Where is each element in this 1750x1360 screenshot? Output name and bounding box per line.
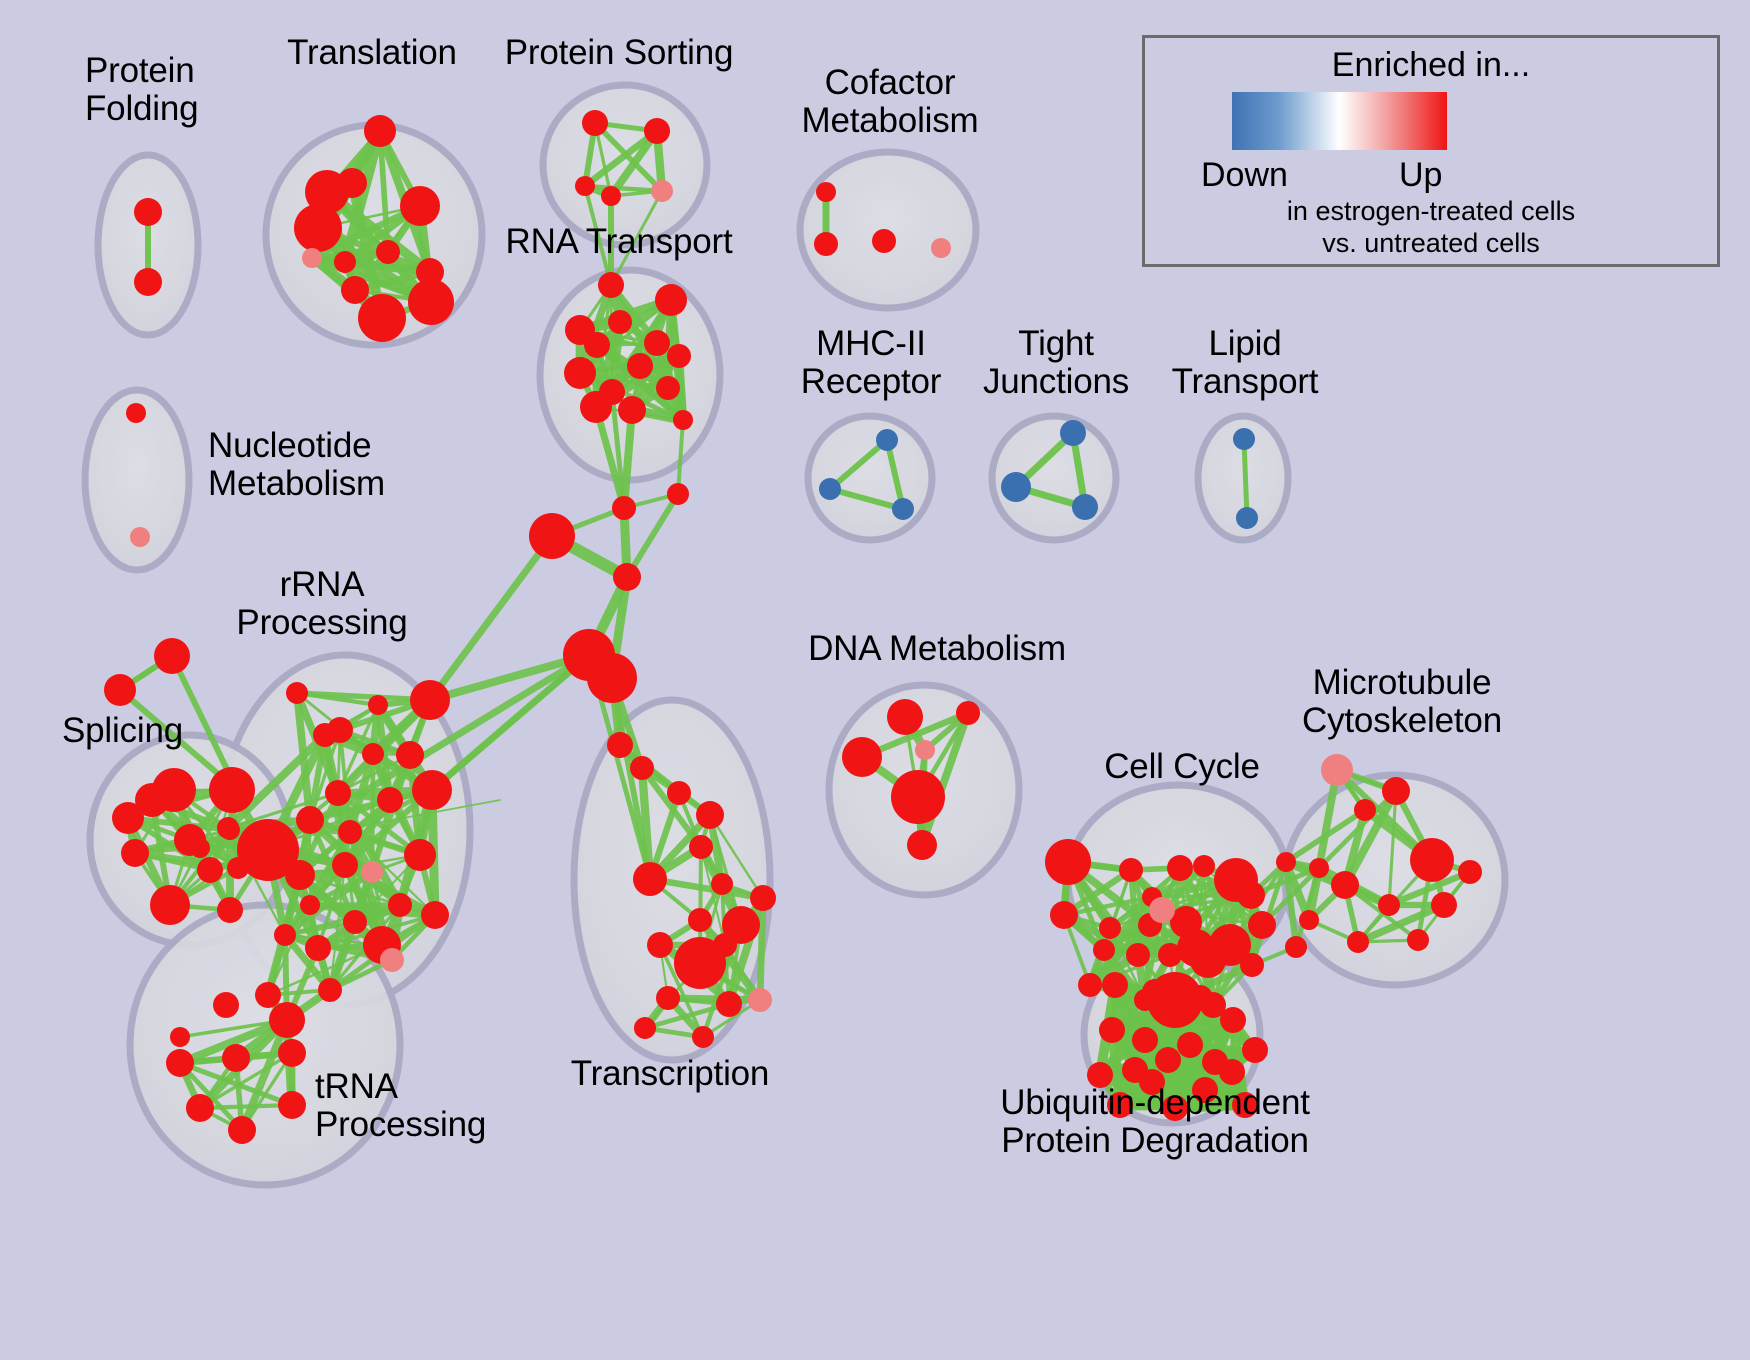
network-node [1242,1037,1268,1063]
network-node [318,978,342,1002]
cluster-blob-mhc-ii-receptor [808,416,932,540]
network-node [842,737,882,777]
network-node [1102,972,1128,998]
network-node [377,787,403,813]
network-node [644,118,670,144]
network-node [1158,943,1182,967]
cluster-label-rna-transport: RNA Transport [506,223,733,261]
network-node [1321,754,1353,786]
cluster-label-dna-metabolism: DNA Metabolism [808,630,1066,668]
network-node [1187,985,1213,1011]
network-node [601,186,621,206]
network-edge [430,536,552,700]
enrichment-map-figure: Protein Folding Translation Protein Sort… [0,0,1750,1360]
network-node [1122,1057,1148,1083]
legend-box: Enriched in... Down Up in estrogen-treat… [1142,35,1720,267]
network-node [112,802,144,834]
network-node [630,756,654,780]
cluster-label-tight-junctions: Tight Junctions [983,325,1129,401]
cluster-label-cofactor-metabolism: Cofactor Metabolism [802,64,979,140]
network-node [404,839,436,871]
network-node [688,908,712,932]
network-node [327,717,353,743]
network-node [294,204,342,252]
network-node [278,1039,306,1067]
network-node [228,1116,256,1144]
network-node [1299,910,1319,930]
network-node [104,674,136,706]
network-node [343,910,367,934]
network-node [1177,1032,1203,1058]
network-node [166,1049,194,1077]
network-node [1155,1047,1181,1073]
network-node [1347,931,1369,953]
network-node [421,901,449,929]
network-node [380,948,404,972]
network-node [618,396,646,424]
cluster-label-cell-cycle: Cell Cycle [1104,748,1260,786]
network-node [362,743,384,765]
network-node [396,741,424,769]
network-node [931,238,951,258]
network-edge [668,998,760,1000]
network-node [305,935,331,961]
network-node [278,1091,306,1119]
legend-subtitle-line1: in estrogen-treated cells [1145,196,1717,227]
network-node [134,198,162,226]
network-node [170,1027,190,1047]
network-node [1093,939,1115,961]
network-node [1236,507,1258,529]
network-node [667,483,689,505]
network-node [227,857,249,879]
network-node [644,330,670,356]
network-node [274,924,296,946]
network-node [887,699,923,735]
network-node [337,168,367,198]
network-node [1142,979,1168,1005]
network-node [529,513,575,559]
network-node [627,353,653,379]
network-node [325,780,351,806]
network-node [358,294,406,342]
network-node [607,732,633,758]
legend-subtitle-line2: vs. untreated cells [1145,228,1717,259]
cluster-label-protein-folding: Protein Folding [85,52,198,128]
network-node [1237,881,1265,909]
network-node [1331,871,1359,899]
cluster-blob-protein-sorting [543,85,707,245]
network-node [1202,1049,1228,1075]
network-node [1309,858,1329,878]
network-node [154,638,190,674]
network-node [1078,973,1102,997]
network-node [891,770,945,824]
cluster-label-ubiquitin-protein-degradation: Ubiquitin-dependent Protein Degradation [1000,1084,1310,1160]
network-node [134,268,162,296]
network-node [907,830,937,860]
network-node [361,861,383,883]
network-node [334,251,356,273]
network-node [209,767,255,813]
cluster-label-splicing: Splicing [62,712,183,750]
network-node [1276,852,1296,872]
network-node [1167,855,1193,881]
network-edge [760,898,763,1000]
network-node [584,332,610,358]
network-node [711,873,733,895]
network-node [748,988,772,1012]
network-node [1001,472,1031,502]
network-node [1050,901,1078,929]
network-node [655,284,687,316]
network-node [608,310,632,334]
network-node [126,403,146,423]
network-node [255,982,281,1008]
legend-down-label: Down [1201,156,1288,195]
network-node [240,827,276,863]
network-node [582,110,608,136]
network-node [1119,858,1143,882]
network-node [217,897,243,923]
network-node [1354,799,1376,821]
cluster-label-protein-sorting: Protein Sorting [505,34,734,72]
network-node [286,682,308,704]
network-node [1240,953,1264,977]
network-node [269,1002,305,1038]
network-node [915,740,935,760]
network-node [598,272,624,298]
network-node [634,1017,656,1039]
network-node [368,695,388,715]
network-node [150,885,190,925]
network-node [1099,917,1121,939]
legend-title: Enriched in... [1145,46,1717,85]
cluster-label-microtubule-cytoskeleton: Microtubule Cytoskeleton [1302,664,1502,740]
network-node [1126,943,1150,967]
network-node [222,1044,250,1072]
legend-color-bar [1232,92,1447,150]
network-node [814,232,838,256]
network-node [716,991,742,1017]
cluster-label-lipid-transport: Lipid Transport [1172,325,1319,401]
network-node [1382,777,1410,805]
network-node [1099,1017,1125,1043]
network-node [713,933,737,957]
network-node [1190,942,1226,978]
network-node [876,429,898,451]
network-node [408,279,454,325]
network-node [613,563,641,591]
cluster-label-mhc-ii-receptor: MHC-II Receptor [801,325,941,401]
network-node [220,820,240,840]
network-node [1149,897,1175,923]
network-node [872,229,896,253]
network-node [1233,428,1255,450]
network-node [633,862,667,896]
network-node [892,498,914,520]
network-node [696,801,724,829]
network-node [612,496,636,520]
network-node [692,1026,714,1048]
network-node [130,527,150,547]
network-node [667,781,691,805]
network-node [388,893,412,917]
network-node [332,852,358,878]
network-node [651,180,673,202]
network-node [819,478,841,500]
cluster-label-nucleotide-metabolism: Nucleotide Metabolism [208,427,385,503]
network-node [197,857,223,883]
network-node [564,357,596,389]
network-node [1378,894,1400,916]
cluster-label-trna-processing: tRNA Processing [315,1068,486,1144]
network-node [1045,839,1091,885]
network-node [580,391,612,423]
network-node [338,820,362,844]
network-node [1248,911,1276,939]
network-node [376,240,400,264]
network-node [190,838,210,858]
network-node [1060,420,1086,446]
network-node [341,276,369,304]
network-node [656,376,680,400]
network-node [647,932,673,958]
network-node [300,895,320,915]
network-node [1407,929,1429,951]
network-node [816,182,836,202]
network-node [364,115,396,147]
network-node [410,680,450,720]
network-node [412,770,452,810]
network-node [656,986,680,1010]
network-node [213,992,239,1018]
network-node [296,806,324,834]
network-node [1193,855,1215,877]
network-node [689,835,713,859]
network-node [1072,494,1098,520]
network-node [750,885,776,911]
network-node [1285,936,1307,958]
network-node [1220,1007,1246,1033]
network-node [302,248,322,268]
network-node [1458,860,1482,884]
network-node [186,1094,214,1122]
legend-up-label: Up [1399,156,1442,195]
cluster-label-transcription: Transcription [571,1055,769,1093]
network-node [587,653,637,703]
network-node [1431,892,1457,918]
network-node [956,701,980,725]
network-node [400,186,440,226]
network-node [1410,838,1454,882]
network-node [667,344,691,368]
network-node [1132,1027,1158,1053]
network-node [673,410,693,430]
network-node [121,839,149,867]
cluster-label-translation: Translation [287,34,457,72]
cluster-label-rrna-processing: rRNA Processing [236,566,407,642]
network-edge [1244,439,1247,518]
network-node [575,176,595,196]
